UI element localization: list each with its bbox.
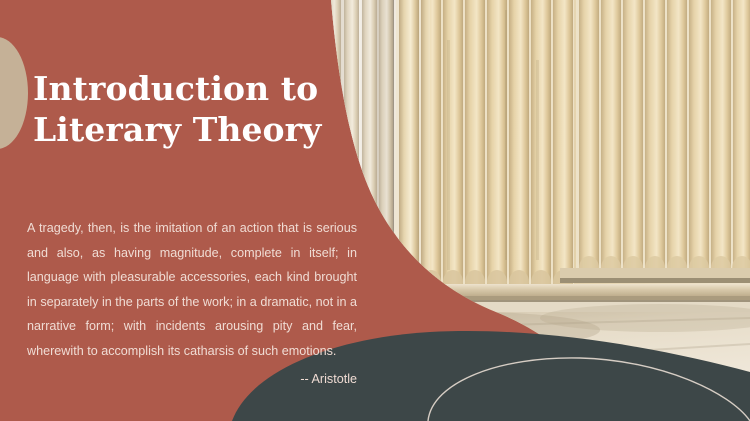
- page-title: Introduction to Literary Theory: [33, 68, 363, 150]
- title-line-2: Literary Theory: [33, 109, 363, 150]
- slide-canvas: Introduction to Literary Theory A traged…: [0, 0, 750, 421]
- quote-block: A tragedy, then, is the imitation of an …: [27, 216, 357, 391]
- title-line-1: Introduction to: [33, 68, 363, 109]
- quote-text: A tragedy, then, is the imitation of an …: [27, 216, 357, 364]
- quote-attribution: -- Aristotle: [27, 367, 357, 392]
